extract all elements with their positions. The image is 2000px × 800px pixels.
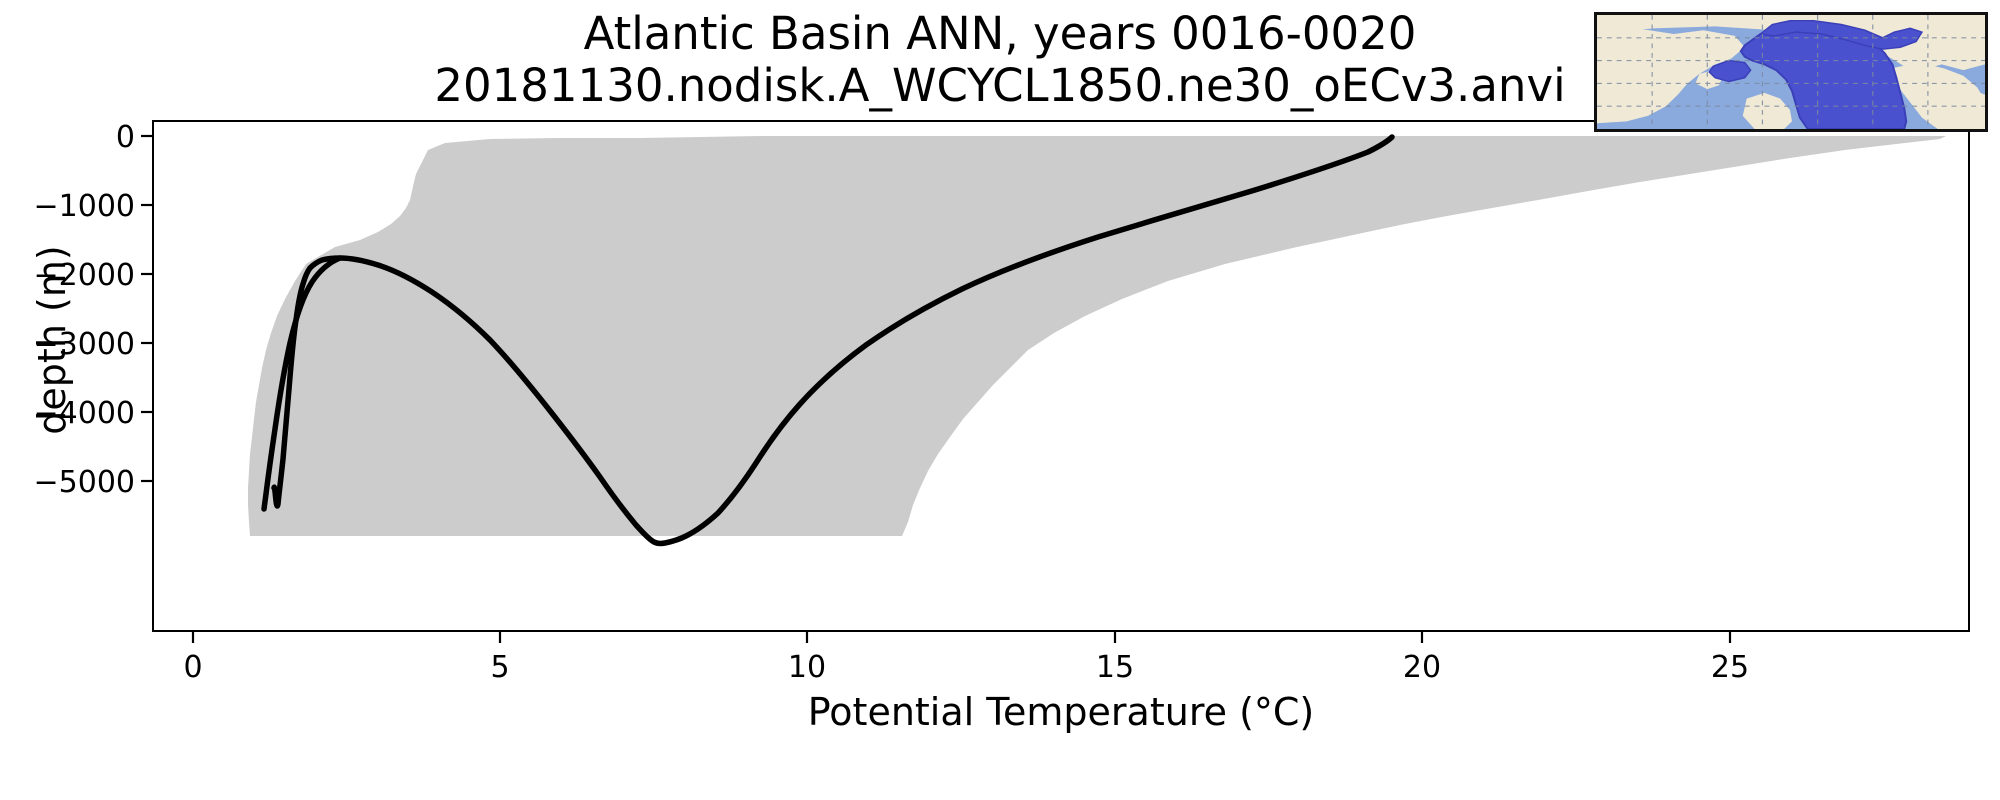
atlantic-basin-region-map bbox=[1594, 12, 1988, 132]
y-axis-label: depth (m) bbox=[30, 170, 74, 510]
xtick-label-0: 0 bbox=[143, 650, 243, 685]
xtick-label-25: 25 bbox=[1680, 650, 1780, 685]
plot-axes-frame bbox=[152, 120, 1970, 632]
y-axis-ticks bbox=[141, 136, 152, 481]
xtick-label-15: 15 bbox=[1065, 650, 1165, 685]
x-axis-label: Potential Temperature (°C) bbox=[152, 690, 1970, 734]
xtick-label-10: 10 bbox=[757, 650, 857, 685]
figure-root: Atlantic Basin ANN, years 0016-0020 2018… bbox=[0, 0, 2000, 800]
region-map-svg bbox=[1597, 15, 1985, 129]
x-axis-ticks bbox=[193, 632, 1730, 643]
ytick-label-0: 0 bbox=[0, 120, 135, 155]
xtick-label-20: 20 bbox=[1372, 650, 1472, 685]
xtick-label-5: 5 bbox=[450, 650, 550, 685]
